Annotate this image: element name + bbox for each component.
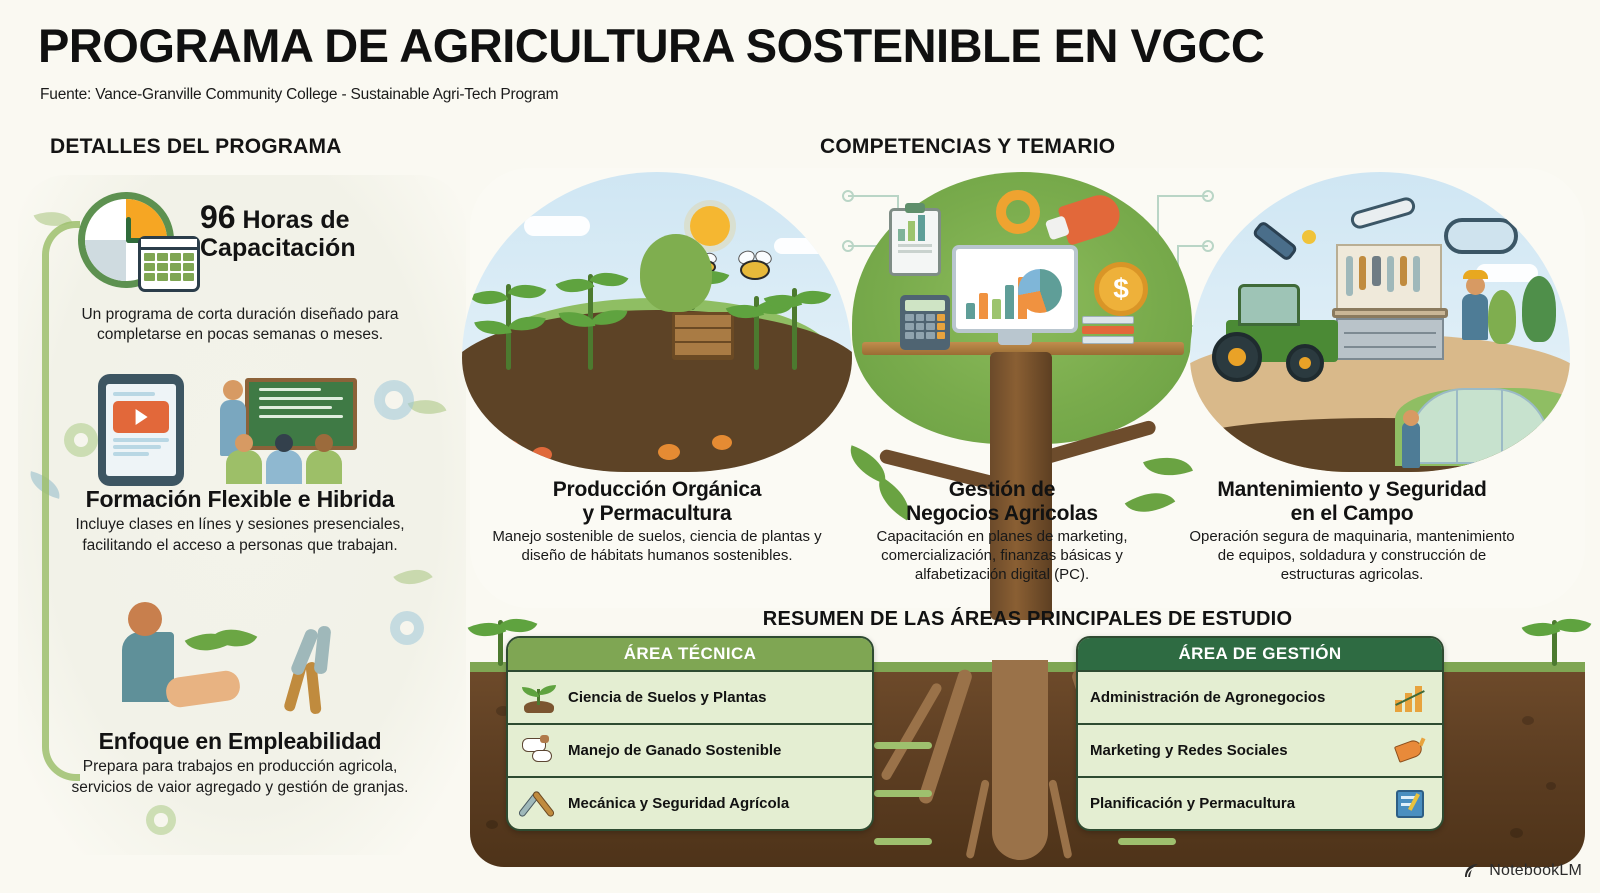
detail-desc: Incluye clases en línes y sesiones prese… — [30, 515, 450, 555]
safety-goggles-icon — [1444, 218, 1518, 254]
vegetable-icon — [532, 447, 552, 462]
table-row[interactable]: Mecánica y Seguridad Agrícola — [508, 776, 872, 829]
calendar-icon — [138, 236, 200, 292]
table-row[interactable]: Manejo de Ganado Sostenible — [508, 723, 872, 776]
books-icon — [1082, 316, 1134, 346]
row-label: Marketing y Redes Sociales — [1090, 742, 1382, 759]
caption-desc: Capacitación en planes de marketing, com… — [842, 528, 1162, 584]
vegetable-icon — [498, 440, 520, 456]
hours-number: 96 — [200, 199, 236, 235]
tractor-cab — [1238, 284, 1300, 326]
gear-icon — [996, 190, 1040, 234]
competency-caption-business: Gestión de Negocios Agricolas Capacitaci… — [842, 478, 1162, 584]
hours-headline: 96 Horas de Capacitación — [200, 200, 450, 263]
weld-spark-icon — [1302, 230, 1316, 244]
clipboard-chart-icon — [889, 208, 941, 276]
worker-icon — [1402, 422, 1420, 468]
tree-icon — [640, 234, 712, 312]
caption-title-line2: y Permacultura — [583, 502, 732, 525]
root-connector — [1118, 838, 1176, 845]
monitor-dashboard-icon — [952, 245, 1078, 333]
infographic-canvas: PROGRAMA DE AGRICULTURA SOSTENIBLE EN VG… — [0, 0, 1600, 893]
tree-icon — [1488, 290, 1516, 344]
tablet-icon — [98, 374, 184, 486]
caption-title-line1: Mantenimiento y Seguridad — [1217, 478, 1486, 501]
tablet-classroom-icon — [30, 370, 450, 486]
dollar-coin-icon: $ — [1094, 262, 1148, 316]
summary-title: RESUMEN DE LAS ÁREAS PRINCIPALES DE ESTU… — [470, 608, 1585, 631]
source-line: Fuente: Vance-Granville Community Colleg… — [40, 86, 558, 104]
table-row[interactable]: Marketing y Redes Sociales — [1078, 723, 1442, 776]
caption-title-line1: Producción Orgánica — [553, 478, 762, 501]
sprout-icon — [498, 620, 503, 666]
row-label: Mecánica y Seguridad Agrícola — [568, 795, 860, 812]
page-title: PROGRAMA DE AGRICULTURA SOSTENIBLE EN VG… — [38, 18, 1264, 73]
cow-sheep-icon — [520, 734, 558, 768]
root-connector — [874, 790, 932, 797]
tractor-wheel — [1286, 344, 1324, 382]
tractor-wheel — [1212, 332, 1262, 382]
watermark-label: NotebookLM — [1489, 862, 1582, 880]
clock-calendar-icon: 96 Horas de Capacitación — [30, 186, 450, 302]
root-connector — [874, 742, 932, 749]
notebooklm-watermark: NotebookLM — [1462, 861, 1582, 881]
caption-title-line1: Gestión de — [949, 478, 1056, 501]
caption-title-line2: Negocios Agricolas — [906, 502, 1098, 525]
vegetable-icon — [658, 444, 680, 460]
detail-desc: Prepara para trabajos en producción agri… — [30, 757, 450, 797]
gear-icon — [146, 805, 176, 835]
row-label: Manejo de Ganado Sostenible — [568, 742, 860, 759]
handshake-sprout-shears-icon — [30, 612, 450, 728]
caption-desc: Operación segura de maquinaria, mantenim… — [1182, 528, 1522, 584]
compost-bin-icon — [672, 312, 734, 360]
students-icon — [226, 450, 342, 484]
notebooklm-swirl-icon — [1462, 861, 1482, 881]
competency-caption-maintenance: Mantenimiento y Seguridad en el Campo Op… — [1182, 478, 1522, 584]
table-row[interactable]: Ciencia de Suelos y Plantas — [508, 670, 872, 723]
row-label: Administración de Agronegocios — [1090, 689, 1382, 706]
blueprint-pencil-icon — [1392, 787, 1430, 821]
pie-chart-icon — [1018, 269, 1062, 313]
area-tecnica-header: ÁREA TÉCNICA — [508, 638, 872, 670]
detail-title: Enfoque en Empleabilidad — [30, 728, 450, 754]
workbench-icon — [1332, 308, 1448, 318]
competency-caption-organic: Producción Orgánica y Permacultura Manej… — [492, 478, 822, 566]
plant-icon — [792, 288, 797, 370]
area-gestion-header: ÁREA DE GESTIÓN — [1078, 638, 1442, 670]
leaf-icon — [393, 560, 432, 594]
cloud-icon — [774, 238, 826, 254]
chalkboard-icon — [245, 378, 357, 450]
detail-desc: Un programa de corta duración diseñado p… — [30, 305, 450, 345]
growth-chart-icon — [1392, 681, 1430, 715]
caption-desc: Manejo sostenible de suelos, ciencia de … — [492, 528, 822, 566]
area-gestion-panel: ÁREA DE GESTIÓN Administración de Agrone… — [1076, 636, 1444, 831]
worker-icon — [1462, 294, 1488, 340]
vegetable-icon — [712, 435, 732, 450]
sprout-icon — [188, 626, 258, 676]
seedling-soil-icon — [520, 681, 558, 715]
table-row[interactable]: Planificación y Permacultura — [1078, 776, 1442, 829]
plant-icon — [506, 284, 511, 370]
plant-icon — [588, 274, 593, 370]
greenhouse-icon — [1408, 388, 1550, 464]
megaphone-icon — [1392, 734, 1430, 768]
plant-icon — [754, 296, 759, 370]
row-label: Planificación y Permacultura — [1090, 795, 1382, 812]
pruning-shears-icon — [282, 632, 356, 712]
caption-title-line2: en el Campo — [1291, 502, 1414, 525]
row-label: Ciencia de Suelos y Plantas — [568, 689, 860, 706]
organic-garden-scene — [462, 172, 852, 472]
bar-chart-icon — [966, 277, 1027, 319]
cloud-icon — [524, 216, 590, 236]
area-tecnica-panel: ÁREA TÉCNICA Ciencia de Suelos y Plantas… — [506, 636, 874, 831]
detail-title: Formación Flexible e Hibrida — [30, 486, 450, 512]
detail-card-flexible: Formación Flexible e Hibrida Incluye cla… — [30, 370, 450, 556]
section-heading-competencies: COMPETENCIAS Y TEMARIO — [820, 135, 1115, 159]
calculator-icon — [900, 295, 950, 350]
detail-card-employability: Enfoque en Empleabilidad Prepara para tr… — [30, 612, 450, 798]
tree-icon — [1522, 276, 1556, 342]
detail-card-hours: 96 Horas de Capacitación Un programa de … — [30, 186, 450, 345]
section-heading-details: DETALLES DEL PROGRAMA — [50, 135, 342, 159]
root-connector — [874, 838, 932, 845]
hard-hat-icon — [1463, 270, 1488, 279]
bee-icon — [740, 260, 770, 280]
table-row[interactable]: Administración de Agronegocios — [1078, 670, 1442, 723]
wrench-screwdriver-icon — [520, 787, 558, 821]
sprout-icon — [1552, 620, 1557, 666]
machinery-workshop-scene — [1190, 172, 1570, 472]
tool-cabinet — [1336, 318, 1444, 360]
